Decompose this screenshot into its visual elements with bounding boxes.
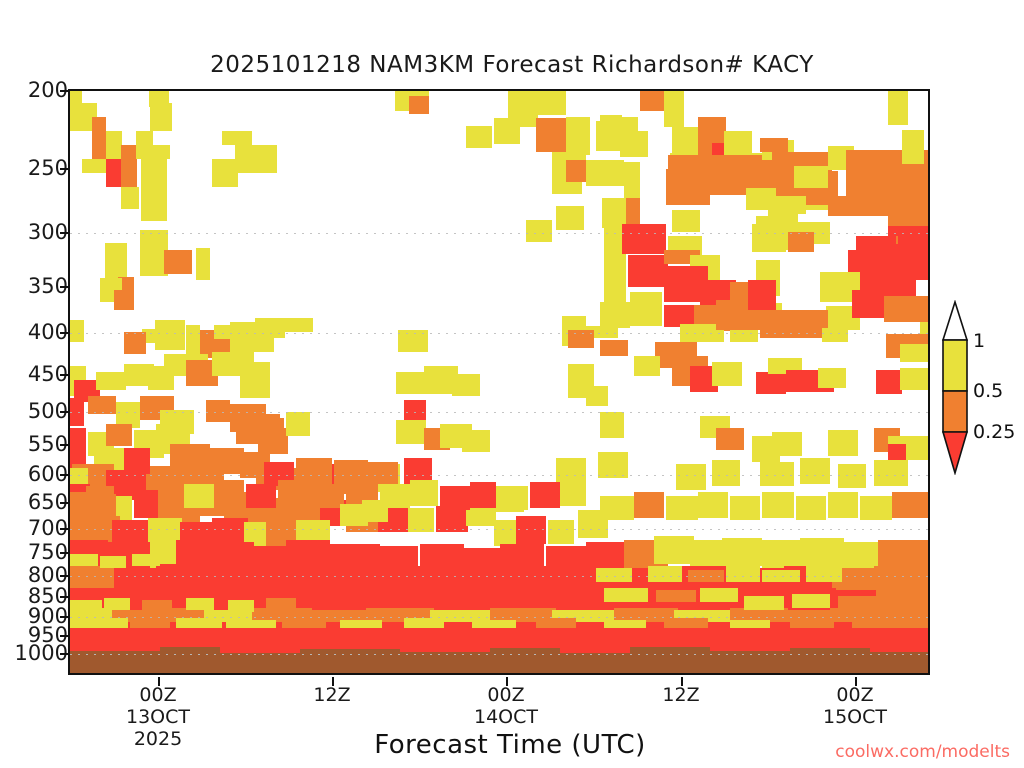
heatmap-cell [516,516,546,544]
heatmap-cell [235,145,277,173]
heatmap-cell [228,600,254,612]
x-tick-label-time-1: 12Z [272,684,392,706]
chart-page: 2025101218 NAM3KM Forecast Richardson# K… [0,0,1024,768]
heatmap-cell [794,166,828,188]
heatmap-cell [712,460,740,486]
heatmap-cell [149,89,169,107]
heatmap-cell [852,290,888,318]
heatmap-cell [184,484,214,508]
heatmap-cell [852,620,900,628]
heatmap-cell [762,570,800,582]
heatmap-cell [828,430,858,456]
heatmap-cell [121,187,139,209]
heatmap-cell [526,220,552,242]
heatmap-cell [68,468,88,484]
heatmap-cell [470,482,496,508]
heatmap-cell [666,169,710,205]
heatmap-cell [148,145,170,159]
terrain-segment [70,651,160,660]
heatmap-cell [860,496,892,520]
heatmap-cell [408,508,434,532]
heatmap-cell [285,318,313,332]
colorbar-tick-1: 1 [973,330,985,352]
y-tick-label-450: 450 [8,362,68,386]
heatmap-cell [404,400,426,422]
heatmap-cell [396,372,426,394]
heatmap-cell [688,570,724,582]
heatmap-cell [664,618,708,628]
heatmap-cell [600,496,634,520]
heatmap-cell [838,464,866,488]
heatmap-cell [282,618,326,628]
heatmap-cell [600,115,622,143]
heatmap-cell [640,89,666,111]
heatmap-cell [676,464,706,490]
heatmap-cell [222,131,252,145]
heatmap-cell [404,618,444,628]
heatmap-cell [722,538,762,566]
heatmap-cell [362,500,388,522]
heatmap-cell [586,160,624,186]
heatmap-cell [150,103,172,131]
heatmap-cell [796,496,826,520]
heatmap-cell [856,236,896,262]
y-tick-label-600: 600 [8,462,68,486]
heatmap-cell [68,618,128,628]
heatmap-cell [838,596,878,610]
heatmap-cell [186,598,214,610]
y-tick-label-700: 700 [8,516,68,540]
colorbar-tick-025: 0.25 [973,421,1015,443]
heatmap-cell [134,490,160,518]
heatmap-cell [548,520,574,544]
heatmap-cell [466,126,492,148]
heatmap-cell [828,196,880,216]
y-tick-label-750: 750 [8,540,68,564]
heatmap-cell [598,452,628,478]
heatmap-cell [410,480,438,506]
heatmap-cell [890,566,930,582]
heatmap-cell [210,448,244,474]
heatmap-cell [622,224,666,254]
heatmap-cell [104,598,130,610]
y-tick-label-200: 200 [8,78,68,102]
y-tick-label-1000: 1000 [8,641,68,665]
heatmap-cell [508,89,566,115]
heatmap-cell [536,118,566,152]
heatmap-cell [800,458,830,484]
y-tick-label-250: 250 [8,156,68,180]
heatmap-cell [206,400,230,422]
heatmap-cell [124,448,150,474]
x-tick-label-date-2: 14OCT [436,706,576,728]
x-axis-title: Forecast Time (UTC) [160,730,860,760]
y-axis: 2002503003504004505005506006507007508008… [0,0,68,768]
heatmap-cell [82,159,106,173]
heatmap-cell [68,89,82,131]
heatmap-cell [96,372,126,390]
heatmap-cell [141,159,167,221]
heatmap-cell [806,566,842,582]
heatmap-cell [698,492,728,518]
heatmap-cell [748,280,776,310]
y-tick-label-550: 550 [8,432,68,456]
x-tick-label-time-4: 00Z [795,684,915,706]
heatmap-cell [216,480,244,506]
heatmap-cell [409,96,429,114]
heatmap-cell [600,340,628,356]
watermark: coolwx.com/modelts [835,742,1010,762]
heatmap-cell [828,492,858,518]
heatmap-cell [240,362,270,398]
heatmap-cell [130,620,170,628]
heatmap-cell [568,330,594,348]
heatmap-cells [70,91,928,673]
heatmap-cell [536,618,576,628]
heatmap-cell [530,482,560,508]
heatmap-cell [892,492,930,518]
heatmap-cell [600,412,624,438]
heatmap-cell [634,492,664,518]
heatmap-cell [712,362,742,386]
x-tick-label-date-4: 15OCT [785,706,925,728]
heatmap-cell [604,620,646,628]
heatmap-cell [672,210,700,232]
heatmap-cell [258,418,284,442]
heatmap-cell [756,372,786,394]
heatmap-cell [176,618,222,628]
heatmap-cell [600,302,630,328]
heatmap-cell [848,570,882,582]
heatmap-cell [398,330,428,352]
heatmap-cell [246,484,276,508]
heatmap-cell [888,89,908,125]
heatmap-cell [214,325,246,339]
heatmap-cell [500,486,528,510]
heatmap-cell [68,398,84,426]
plot-area[interactable] [68,89,930,675]
colorbar-tick-05: 0.5 [973,380,1003,402]
heatmap-cell [716,428,744,450]
heatmap-cell [876,370,902,394]
heatmap-cell [132,554,160,566]
heatmap-cell [902,130,924,164]
heatmap-cell [186,325,200,355]
heatmap-cell [666,496,698,520]
heatmap-cell [396,420,426,444]
heatmap-cell [90,494,116,516]
x-tick-label-date-0: 13OCT [88,706,228,728]
heatmap-cell [760,462,794,486]
heatmap-cell [762,492,794,518]
y-tick-label-650: 650 [8,490,68,514]
gridline-surface [70,654,928,655]
heatmap-cell [730,620,770,628]
heatmap-cell [878,540,930,568]
heatmap-cell [452,374,480,396]
heatmap-cell [124,332,146,354]
heatmap-cell [226,620,276,628]
heatmap-cell [196,248,210,280]
heatmap-cell [788,232,814,252]
heatmap-cell [286,412,310,436]
y-tick-label-350: 350 [8,274,68,298]
heatmap-cell [760,138,788,152]
y-tick-label-500: 500 [8,399,68,423]
heatmap-cell [884,296,928,322]
y-tick-label-300: 300 [8,220,68,244]
heatmap-cell [634,356,660,376]
heatmap-cell [340,620,382,628]
heatmap-cell [494,118,520,144]
heatmap-cell [792,594,830,608]
heatmap-cell [884,594,930,608]
heatmap-cell [800,538,844,566]
y-tick-label-400: 400 [8,320,68,344]
heatmap-cell [656,590,696,602]
heatmap-cell [664,89,684,127]
heatmap-cell [440,486,470,510]
heatmap-cell [68,492,88,514]
heatmap-cell [68,320,84,342]
heatmap-cell [556,458,586,484]
heatmap-cell [586,386,608,406]
heatmap-cell [212,159,238,187]
heatmap-cell [624,162,640,202]
heatmap-cell [874,460,908,486]
heatmap-cell [88,396,116,414]
heatmap-cell [164,250,192,274]
heatmap-cell [556,206,584,230]
heatmap-cell [310,484,344,508]
heatmap-cell [628,255,668,287]
heatmap-cell [772,196,806,214]
heatmap-cell [142,600,172,612]
heatmap-cell [730,496,760,520]
heatmap-cell [472,620,516,628]
heatmap-cell [744,596,784,610]
heatmap-cell [596,568,632,582]
heatmap-cell [822,328,848,342]
heatmap-cell [462,430,490,452]
heatmap-cell [900,368,930,390]
chart-title: 2025101218 NAM3KM Forecast Richardson# K… [0,52,1024,78]
heatmap-cell [818,368,846,388]
x-tick-label-time-0: 00Z [98,684,218,706]
heatmap-cell [648,566,682,582]
terrain-segment [710,651,790,660]
heatmap-cell [106,424,132,446]
x-tick-label-time-2: 00Z [446,684,566,706]
heatmap-cell [630,292,662,326]
heatmap-cell [700,588,738,602]
colorbar-legend[interactable]: 1 0.5 0.25 [941,300,1024,475]
heatmap-cell [68,554,98,566]
heatmap-cell [266,598,296,610]
heatmap-cell [772,432,802,456]
x-tick-label-time-3: 12Z [621,684,741,706]
heatmap-cell [726,566,760,582]
heatmap-cell [68,600,102,612]
heatmap-cell [106,131,122,159]
heatmap-cell [604,588,648,602]
heatmap-cell [278,480,310,506]
heatmap-cell [900,168,930,198]
heatmap-cell [900,344,930,362]
heatmap-cell [654,536,694,564]
heatmap-cell [106,159,122,187]
heatmap-cell [790,618,834,628]
heatmap-cell [896,618,930,628]
heatmap-cell [170,444,210,472]
heatmap-cell [100,556,126,568]
heatmap-cell [604,262,626,302]
heatmap-cell [760,310,828,338]
heatmap-cell [114,290,134,310]
heatmap-cell [566,117,590,155]
